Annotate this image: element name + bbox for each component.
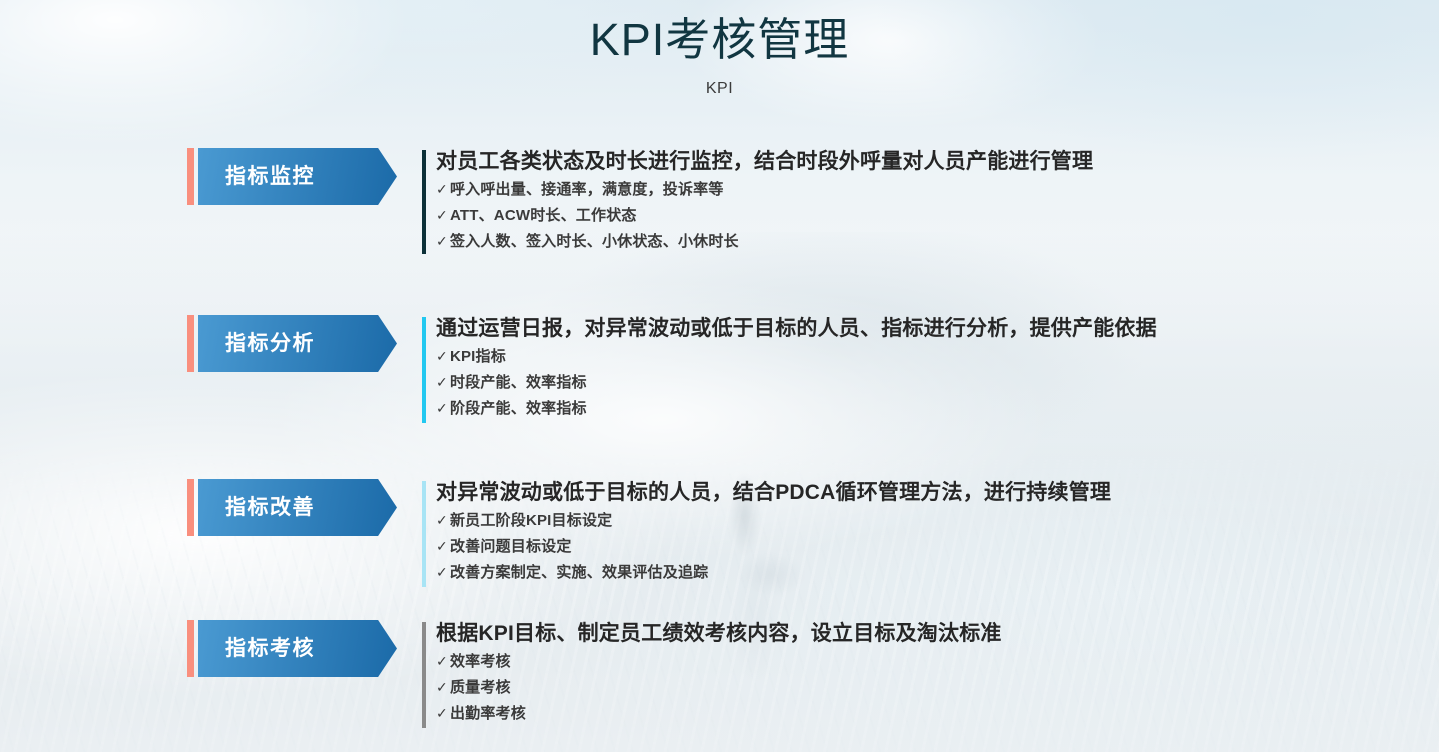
section-row-3: 指标改善 对异常波动或低于目标的人员，结合PDCA循环管理方法，进行持续管理 ✓… (187, 479, 1419, 580)
badge-label-1: 指标监控 (198, 166, 315, 187)
section-heading-1: 对员工各类状态及时长进行监控，结合时段外呼量对人员产能进行管理 (436, 148, 1419, 175)
list-item-label: 新员工阶段KPI目标设定 (450, 513, 612, 528)
badge-label-3: 指标改善 (198, 497, 315, 518)
list-item: ✓ 效率考核 (436, 654, 1419, 669)
section-row-2: 指标分析 通过运营日报，对异常波动或低于目标的人员、指标进行分析，提供产能依据 … (187, 315, 1419, 416)
badge-accent-bar-2 (187, 315, 194, 372)
section-rule-1 (422, 150, 426, 254)
list-item-label: 出勤率考核 (450, 706, 526, 721)
section-content-3: 对异常波动或低于目标的人员，结合PDCA循环管理方法，进行持续管理 ✓ 新员工阶… (422, 479, 1419, 580)
section-bullets-3: ✓ 新员工阶段KPI目标设定 ✓ 改善问题目标设定 ✓ 改善方案制定、实施、效果… (436, 513, 1419, 580)
list-item: ✓ 时段产能、效率指标 (436, 375, 1419, 390)
badge-accent-bar-4 (187, 620, 194, 677)
section-rule-4 (422, 622, 426, 728)
list-item-label: 签入人数、签入时长、小休状态、小休时长 (450, 234, 739, 249)
check-icon: ✓ (436, 513, 448, 527)
badge-label-4: 指标考核 (198, 638, 315, 659)
section-heading-3: 对异常波动或低于目标的人员，结合PDCA循环管理方法，进行持续管理 (436, 479, 1419, 506)
section-list: 指标监控 对员工各类状态及时长进行监控，结合时段外呼量对人员产能进行管理 ✓ 呼… (0, 0, 1439, 752)
section-badge-3[interactable]: 指标改善 (187, 479, 399, 536)
badge-arrow-shape-4: 指标考核 (198, 620, 397, 677)
check-icon: ✓ (436, 375, 448, 389)
badge-arrow-shape-3: 指标改善 (198, 479, 397, 536)
check-icon: ✓ (436, 349, 448, 363)
list-item: ✓ 改善方案制定、实施、效果评估及追踪 (436, 565, 1419, 580)
section-row-1: 指标监控 对员工各类状态及时长进行监控，结合时段外呼量对人员产能进行管理 ✓ 呼… (187, 148, 1419, 249)
section-bullets-4: ✓ 效率考核 ✓ 质量考核 ✓ 出勤率考核 (436, 654, 1419, 721)
list-item: ✓ 签入人数、签入时长、小休状态、小休时长 (436, 234, 1419, 249)
list-item-label: KPI指标 (450, 349, 506, 364)
section-badge-2[interactable]: 指标分析 (187, 315, 399, 372)
section-rule-2 (422, 317, 426, 423)
section-content-1: 对员工各类状态及时长进行监控，结合时段外呼量对人员产能进行管理 ✓ 呼入呼出量、… (422, 148, 1419, 249)
badge-arrow-shape-2: 指标分析 (198, 315, 397, 372)
check-icon: ✓ (436, 565, 448, 579)
list-item: ✓ ATT、ACW时长、工作状态 (436, 208, 1419, 223)
check-icon: ✓ (436, 401, 448, 415)
list-item: ✓ KPI指标 (436, 349, 1419, 364)
list-item-label: 改善方案制定、实施、效果评估及追踪 (450, 565, 708, 580)
check-icon: ✓ (436, 539, 448, 553)
check-icon: ✓ (436, 680, 448, 694)
section-content-2: 通过运营日报，对异常波动或低于目标的人员、指标进行分析，提供产能依据 ✓ KPI… (422, 315, 1419, 416)
check-icon: ✓ (436, 706, 448, 720)
badge-arrow-shape-1: 指标监控 (198, 148, 397, 205)
section-content-4: 根据KPI目标、制定员工绩效考核内容，设立目标及淘汰标准 ✓ 效率考核 ✓ 质量… (422, 620, 1419, 721)
check-icon: ✓ (436, 654, 448, 668)
list-item: ✓ 质量考核 (436, 680, 1419, 695)
list-item-label: 效率考核 (450, 654, 511, 669)
list-item-label: 质量考核 (450, 680, 511, 695)
badge-accent-bar-1 (187, 148, 194, 205)
list-item-label: ATT、ACW时长、工作状态 (450, 208, 637, 223)
list-item-label: 时段产能、效率指标 (450, 375, 587, 390)
section-row-4: 指标考核 根据KPI目标、制定员工绩效考核内容，设立目标及淘汰标准 ✓ 效率考核… (187, 620, 1419, 721)
badge-accent-bar-3 (187, 479, 194, 536)
check-icon: ✓ (436, 208, 448, 222)
list-item: ✓ 阶段产能、效率指标 (436, 401, 1419, 416)
list-item: ✓ 新员工阶段KPI目标设定 (436, 513, 1419, 528)
list-item: ✓ 出勤率考核 (436, 706, 1419, 721)
section-bullets-2: ✓ KPI指标 ✓ 时段产能、效率指标 ✓ 阶段产能、效率指标 (436, 349, 1419, 416)
list-item-label: 改善问题目标设定 (450, 539, 572, 554)
check-icon: ✓ (436, 182, 448, 196)
list-item-label: 阶段产能、效率指标 (450, 401, 587, 416)
section-heading-2: 通过运营日报，对异常波动或低于目标的人员、指标进行分析，提供产能依据 (436, 315, 1419, 342)
badge-label-2: 指标分析 (198, 333, 315, 354)
slide-canvas: KPI考核管理 KPI 指标监控 对员工各类状态及时长进行监控，结合时段外呼量对… (0, 0, 1439, 752)
section-badge-4[interactable]: 指标考核 (187, 620, 399, 677)
section-rule-3 (422, 481, 426, 587)
list-item-label: 呼入呼出量、接通率，满意度，投诉率等 (450, 182, 724, 197)
section-bullets-1: ✓ 呼入呼出量、接通率，满意度，投诉率等 ✓ ATT、ACW时长、工作状态 ✓ … (436, 182, 1419, 249)
list-item: ✓ 呼入呼出量、接通率，满意度，投诉率等 (436, 182, 1419, 197)
check-icon: ✓ (436, 234, 448, 248)
section-heading-4: 根据KPI目标、制定员工绩效考核内容，设立目标及淘汰标准 (436, 620, 1419, 647)
section-badge-1[interactable]: 指标监控 (187, 148, 399, 205)
list-item: ✓ 改善问题目标设定 (436, 539, 1419, 554)
